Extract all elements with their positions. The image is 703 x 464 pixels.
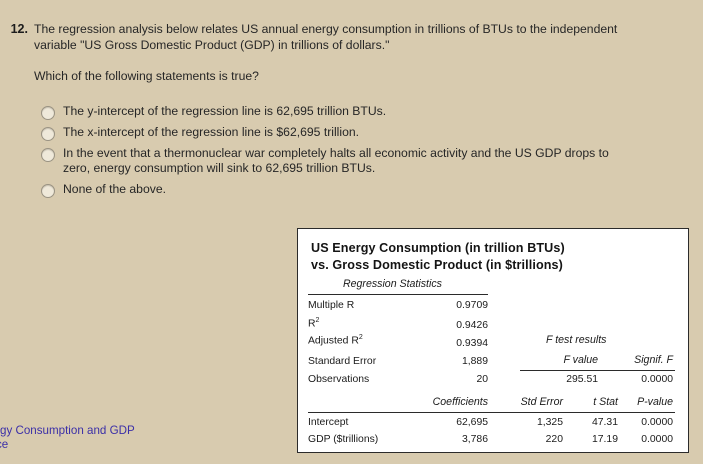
truncated-link-line-2[interactable]: ce <box>0 438 135 452</box>
radio-button-icon-3[interactable] <box>41 148 55 162</box>
option-row-4[interactable]: None of the above. <box>41 182 634 198</box>
stat-label-r-squared: R2 <box>308 317 319 329</box>
card-title-line-1: US Energy Consumption (in trillion BTUs) <box>311 240 688 257</box>
stat-label-adjusted-r-squared-text: Adjusted R <box>308 335 359 346</box>
option-label-4: None of the above. <box>63 182 166 198</box>
statistics-area: Regression Statistics Multiple R 0.9709 … <box>298 278 688 446</box>
question-number: 12. <box>0 22 34 37</box>
question-stem: The regression analysis below relates US… <box>34 22 622 53</box>
option-row-3[interactable]: In the event that a thermonuclear war co… <box>41 146 634 177</box>
truncated-link-text[interactable]: gy Consumption and GDP ce <box>0 424 135 452</box>
rule-f-test-headers <box>520 370 675 371</box>
option-label-3: In the event that a thermonuclear war co… <box>63 146 628 177</box>
stat-value-standard-error: 1,889 <box>408 356 488 367</box>
stat-label-r-squared-text: R <box>308 318 316 329</box>
rule-coefficient-headers <box>308 412 675 413</box>
rule-regression-statistics <box>308 294 488 295</box>
option-row-1[interactable]: The y-intercept of the regression line i… <box>41 104 634 120</box>
f-test-value-signif-f: 0.0000 <box>603 374 673 385</box>
regression-output-card: US Energy Consumption (in trillion BTUs)… <box>297 228 689 453</box>
radio-button-icon-1[interactable] <box>41 106 55 120</box>
coef-row-gdp-name: GDP ($trillions) <box>308 434 378 445</box>
coef-row-intercept-name: Intercept <box>308 417 348 428</box>
question-body: The regression analysis below relates US… <box>34 22 634 203</box>
question-block: 12. The regression analysis below relate… <box>0 22 703 203</box>
f-test-value-f: 295.51 <box>528 374 598 385</box>
regression-statistics-heading: Regression Statistics <box>343 278 442 290</box>
stat-value-multiple-r: 0.9709 <box>408 300 488 311</box>
stat-label-adjusted-r-squared: Adjusted R2 <box>308 334 363 346</box>
coef-row-intercept-coefficient: 62,695 <box>383 417 488 428</box>
coef-row-gdp-p-value: 0.0000 <box>603 434 673 445</box>
coef-header-p-value: P-value <box>603 396 673 408</box>
options-list: The y-intercept of the regression line i… <box>41 104 634 198</box>
stat-label-r-squared-sup: 2 <box>316 317 320 324</box>
radio-button-icon-2[interactable] <box>41 127 55 141</box>
stat-label-adjusted-r-squared-sup: 2 <box>359 334 363 341</box>
question-prompt: Which of the following statements is tru… <box>34 69 634 85</box>
stat-value-r-squared: 0.9426 <box>408 320 488 331</box>
stat-label-multiple-r: Multiple R <box>308 300 354 311</box>
f-test-heading: F test results <box>546 334 606 346</box>
radio-button-icon-4[interactable] <box>41 184 55 198</box>
stat-value-observations: 20 <box>408 374 488 385</box>
coef-row-gdp-coefficient: 3,786 <box>383 434 488 445</box>
option-row-2[interactable]: The x-intercept of the regression line i… <box>41 125 634 141</box>
coef-row-intercept-p-value: 0.0000 <box>603 417 673 428</box>
stat-label-standard-error: Standard Error <box>308 356 376 367</box>
f-test-header-f-value: F value <box>528 354 598 366</box>
coef-header-coefficients: Coefficients <box>383 396 488 408</box>
truncated-link-line-1[interactable]: gy Consumption and GDP <box>0 424 135 438</box>
card-title-line-2: vs. Gross Domestic Product (in $trillion… <box>311 257 688 274</box>
stat-value-adjusted-r-squared: 0.9394 <box>408 338 488 349</box>
card-title: US Energy Consumption (in trillion BTUs)… <box>311 240 688 274</box>
stat-label-observations: Observations <box>308 374 369 385</box>
option-label-2: The x-intercept of the regression line i… <box>63 125 359 141</box>
f-test-header-signif-f: Signif. F <box>603 354 673 366</box>
option-label-1: The y-intercept of the regression line i… <box>63 104 386 120</box>
